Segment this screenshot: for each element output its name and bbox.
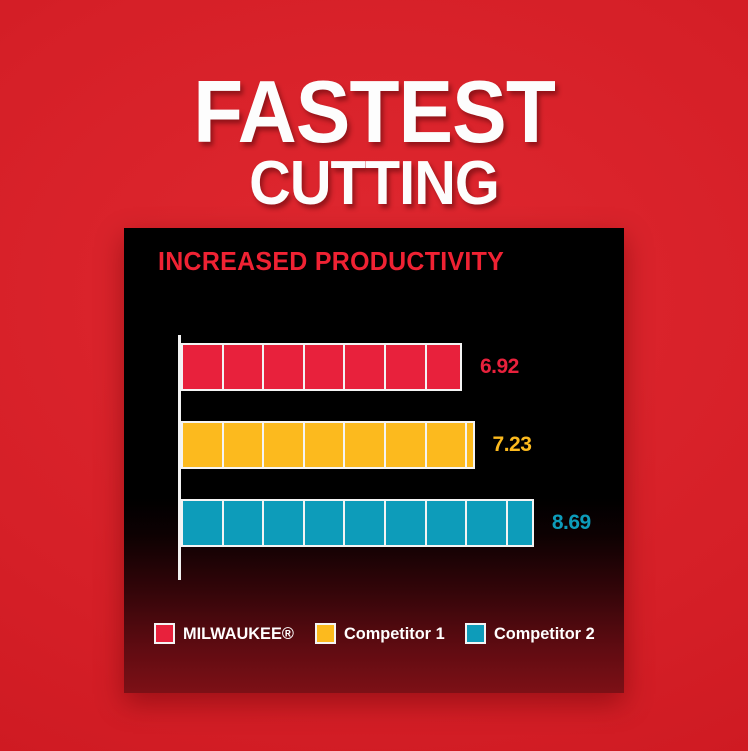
bar-segment (264, 345, 305, 389)
bar-segment (264, 423, 305, 467)
chart-legend: MILWAUKEE®Competitor 1Competitor 2 (154, 623, 599, 644)
legend-item-1[interactable]: MILWAUKEE® (154, 623, 298, 644)
bar-row: 7.23 (181, 421, 601, 469)
bar-segment-partial (508, 501, 536, 545)
bar-row: 6.92 (181, 343, 601, 391)
bar-segment (386, 423, 427, 467)
bar-value-label: 8.69 (552, 511, 591, 535)
bar-segment (345, 345, 386, 389)
bar-segment (467, 501, 508, 545)
bar-segment (264, 501, 305, 545)
bar-segment (386, 345, 427, 389)
bar-segment (224, 345, 265, 389)
bar-segment (427, 501, 468, 545)
legend-label: MILWAUKEE® (183, 624, 294, 644)
headline: FASTEST CUTTING (0, 72, 748, 212)
bar-segment (345, 423, 386, 467)
bar-segment (386, 501, 427, 545)
bar-row: 8.69 (181, 499, 601, 547)
legend-swatch-icon (154, 623, 175, 644)
bar-value-label: 7.23 (493, 433, 532, 457)
poster-background: FASTEST CUTTING INCREASED PRODUCTIVITY 6… (0, 0, 748, 751)
bar-2 (181, 421, 475, 469)
headline-line-2: CUTTING (26, 155, 722, 212)
legend-item-3[interactable]: Competitor 2 (465, 623, 599, 644)
headline-line-1: FASTEST (26, 72, 722, 153)
plot-area: 6.927.238.69 (178, 335, 598, 590)
legend-label: Competitor 2 (494, 624, 595, 644)
bar-segment (305, 345, 346, 389)
bar-segment (224, 423, 265, 467)
bar-value-label: 6.92 (480, 355, 519, 379)
bar-3 (181, 499, 534, 547)
bar-segment (305, 501, 346, 545)
legend-item-2[interactable]: Competitor 1 (315, 623, 449, 644)
bar-segment (224, 501, 265, 545)
bar-segment (427, 423, 468, 467)
bar-segment (345, 501, 386, 545)
bar-segment (183, 501, 224, 545)
legend-swatch-icon (315, 623, 336, 644)
legend-swatch-icon (465, 623, 486, 644)
bar-segment (305, 423, 346, 467)
bar-1 (181, 343, 462, 391)
bar-segment (183, 345, 224, 389)
bar-segment-partial (427, 345, 464, 389)
bar-segment-partial (467, 423, 476, 467)
legend-label: Competitor 1 (344, 624, 445, 644)
chart-title: INCREASED PRODUCTIVITY (158, 246, 504, 277)
bar-segment (183, 423, 224, 467)
chart-panel: INCREASED PRODUCTIVITY 6.927.238.69 09 S… (124, 228, 624, 693)
